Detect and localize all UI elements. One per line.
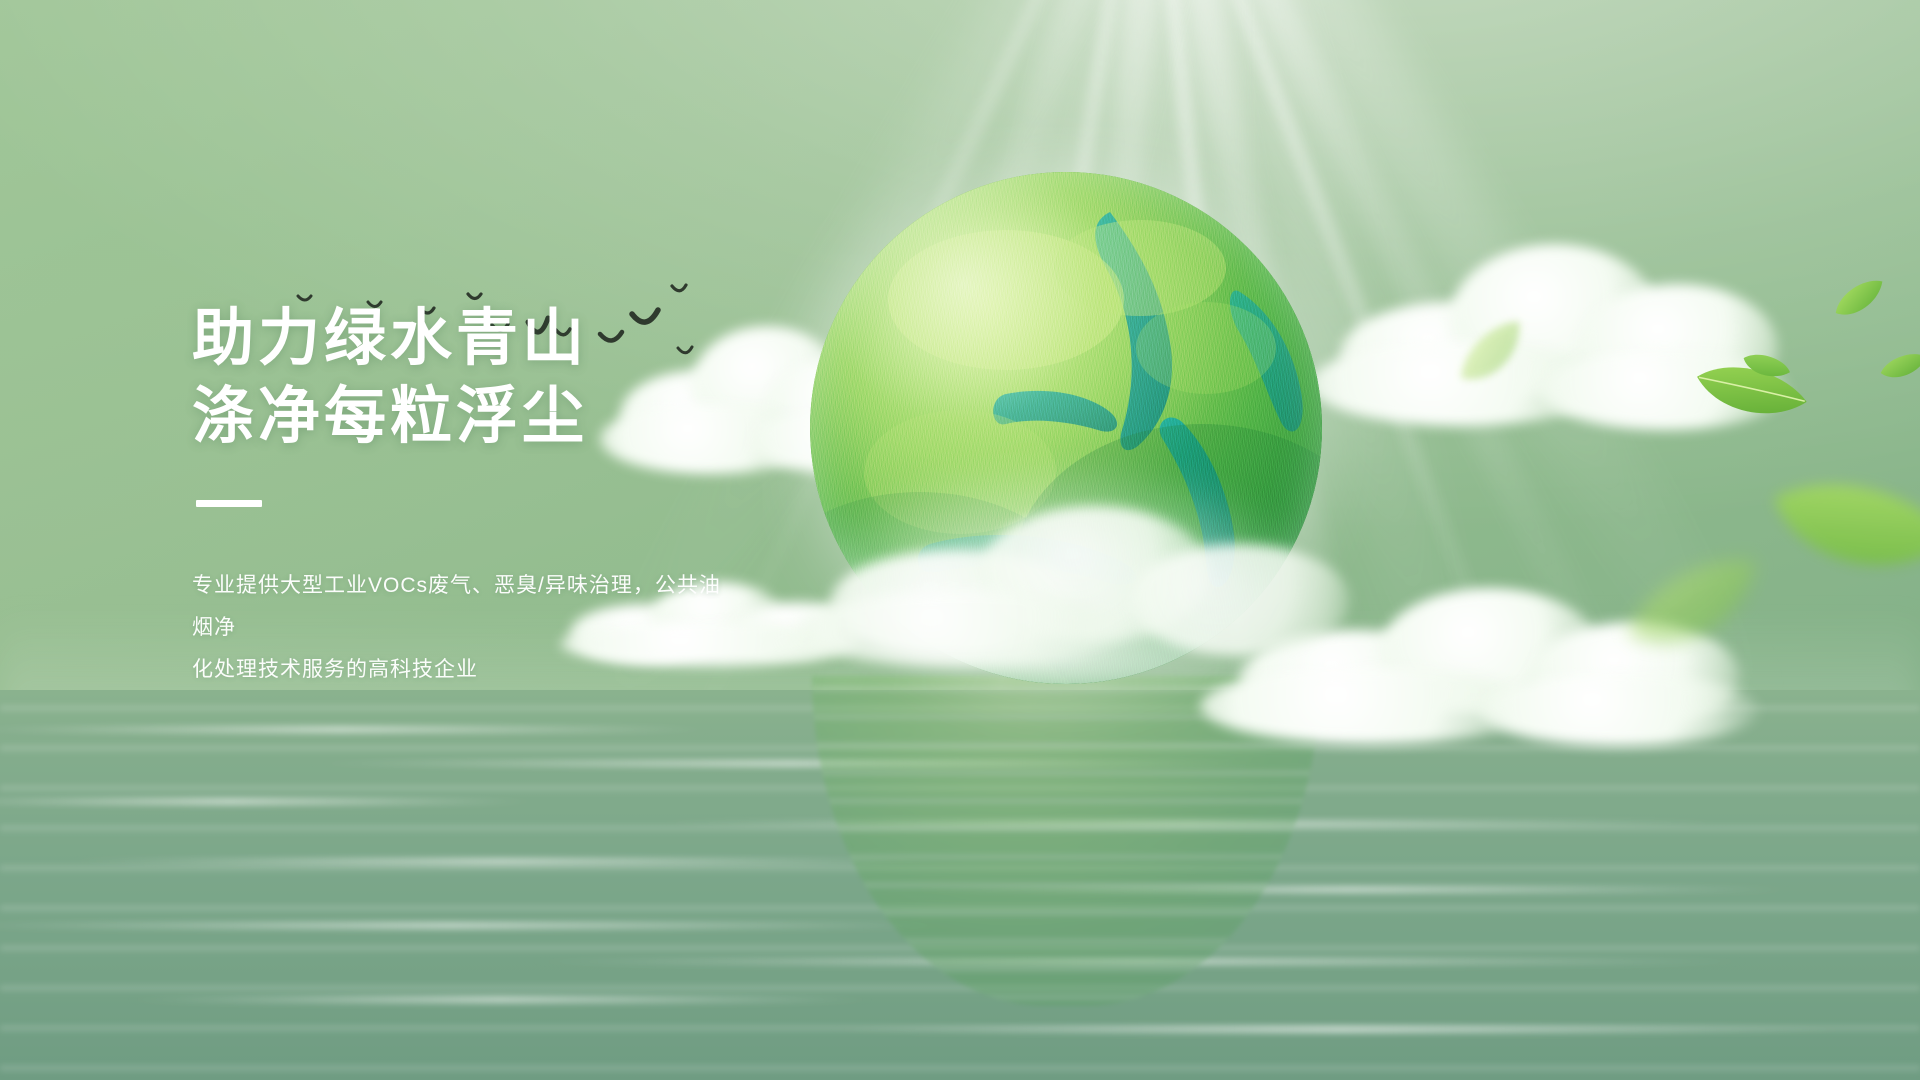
headline-line-1: 助力绿水青山 [192, 300, 912, 378]
floating-leaf-small-upper [1826, 270, 1895, 328]
divider-rule [196, 500, 262, 507]
floating-leaf-near-globe [1443, 308, 1543, 399]
subcopy-line-1: 专业提供大型工业VOCs废气、恶臭/异味治理，公共油烟净 [192, 565, 732, 649]
subcopy-line-2: 化处理技术服务的高科技企业 [192, 649, 732, 691]
globe-water-reflection [812, 676, 1320, 1006]
floating-leaf-right-edge [1875, 347, 1920, 387]
headline-line-2: 涤净每粒浮尘 [192, 378, 912, 456]
subcopy: 专业提供大型工业VOCs废气、恶臭/异味治理，公共油烟净 化处理技术服务的高科技… [192, 565, 732, 691]
hero-banner: 助力绿水青山 涤净每粒浮尘 专业提供大型工业VOCs废气、恶臭/异味治理，公共油… [0, 0, 1920, 1080]
banner-copy: 助力绿水青山 涤净每粒浮尘 专业提供大型工业VOCs废气、恶臭/异味治理，公共油… [192, 300, 912, 691]
